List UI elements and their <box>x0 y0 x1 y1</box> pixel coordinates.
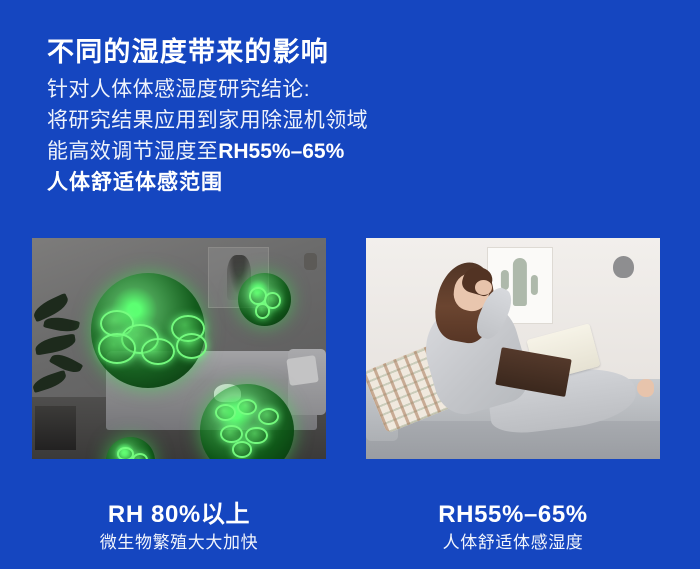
microbe-cell <box>220 425 243 443</box>
microbe-cluster-small <box>238 273 291 326</box>
microbe-cell <box>232 441 253 458</box>
caption-subtitle: 微生物繁殖大大加快 <box>32 530 326 556</box>
microbe-cluster-large <box>91 273 206 388</box>
microbe-cell <box>132 453 148 459</box>
slide-root: 不同的湿度带来的影响 针对人体体感湿度研究结论: 将研究结果应用到家用除湿机领域… <box>0 0 700 569</box>
intro-paragraph: 针对人体体感湿度研究结论: 将研究结果应用到家用除湿机领域 能高效调节湿度至RH… <box>47 74 368 198</box>
plant-pot <box>35 406 76 450</box>
page-title: 不同的湿度带来的影响 <box>47 34 329 70</box>
caption-title: RH 80%以上 <box>32 500 326 530</box>
caption-title: RH55%–65% <box>366 500 660 530</box>
intro-line-3: 能高效调节湿度至RH55%–65% <box>47 136 368 167</box>
photo-high-humidity <box>32 238 326 459</box>
microbe-cell <box>141 338 175 365</box>
microbe-cell <box>176 333 208 359</box>
caption-subtitle: 人体舒适体感湿度 <box>366 530 660 556</box>
intro-line-1: 针对人体体感湿度研究结论: <box>47 74 368 105</box>
microbe-cell <box>258 408 279 425</box>
microbe-cell <box>98 333 136 363</box>
intro-line-4: 人体舒适体感范围 <box>47 167 368 198</box>
wall-switch-icon <box>304 253 317 270</box>
intro-line-3-prefix: 能高效调节湿度至 <box>47 140 218 163</box>
sofa-cushion <box>286 355 319 385</box>
microbe-cell <box>237 399 257 415</box>
caption-comfort-humidity: RH55%–65% 人体舒适体感湿度 <box>366 500 660 556</box>
microbe-cell <box>215 404 236 421</box>
photo-comfort-humidity <box>366 238 660 459</box>
intro-line-3-highlight: RH55%–65% <box>218 140 344 163</box>
intro-line-2: 将研究结果应用到家用除湿机领域 <box>47 105 368 136</box>
microbe-cell <box>255 303 271 319</box>
wall-speaker-icon <box>613 256 634 278</box>
cactus-illustration <box>513 258 527 306</box>
scene-dim-living-room <box>32 238 326 459</box>
caption-high-humidity: RH 80%以上 微生物繁殖大大加快 <box>32 500 326 556</box>
scene-bright-living-room <box>366 238 660 459</box>
person-foot <box>637 379 655 397</box>
